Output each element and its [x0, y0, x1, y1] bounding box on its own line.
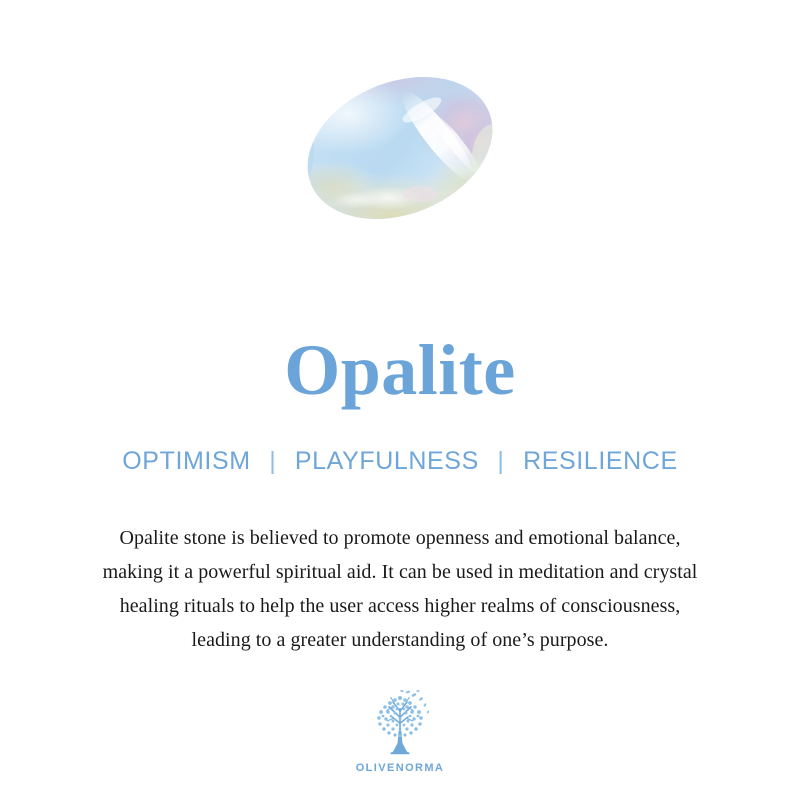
description-line: making it a powerful spiritual aid. It c… — [22, 555, 778, 589]
keyword-playfulness: PLAYFULNESS — [295, 447, 479, 475]
page-title: Opalite — [0, 334, 800, 406]
brand-logo: OLIVENORMA — [0, 688, 800, 774]
description-line: Opalite stone is believed to promote ope… — [22, 521, 778, 555]
description-text: Opalite stone is believed to promote ope… — [22, 521, 778, 657]
tree-icon — [362, 688, 438, 760]
keyword-separator: | — [486, 446, 515, 477]
keyword-separator: | — [258, 446, 287, 477]
keyword-optimism: OPTIMISM — [122, 447, 250, 475]
keyword-list: OPTIMISM | PLAYFULNESS | RESILIENCE — [0, 446, 800, 477]
keyword-resilience: RESILIENCE — [523, 447, 678, 475]
description-line: healing rituals to help the user access … — [22, 589, 778, 623]
hero-image-area — [0, 58, 800, 233]
brand-name: OLIVENORMA — [0, 762, 800, 774]
description-line: leading to a greater understanding of on… — [22, 623, 778, 657]
opalite-info-card: Opalite OPTIMISM | PLAYFULNESS | RESILIE… — [0, 0, 800, 800]
opalite-stone-image — [270, 58, 530, 233]
